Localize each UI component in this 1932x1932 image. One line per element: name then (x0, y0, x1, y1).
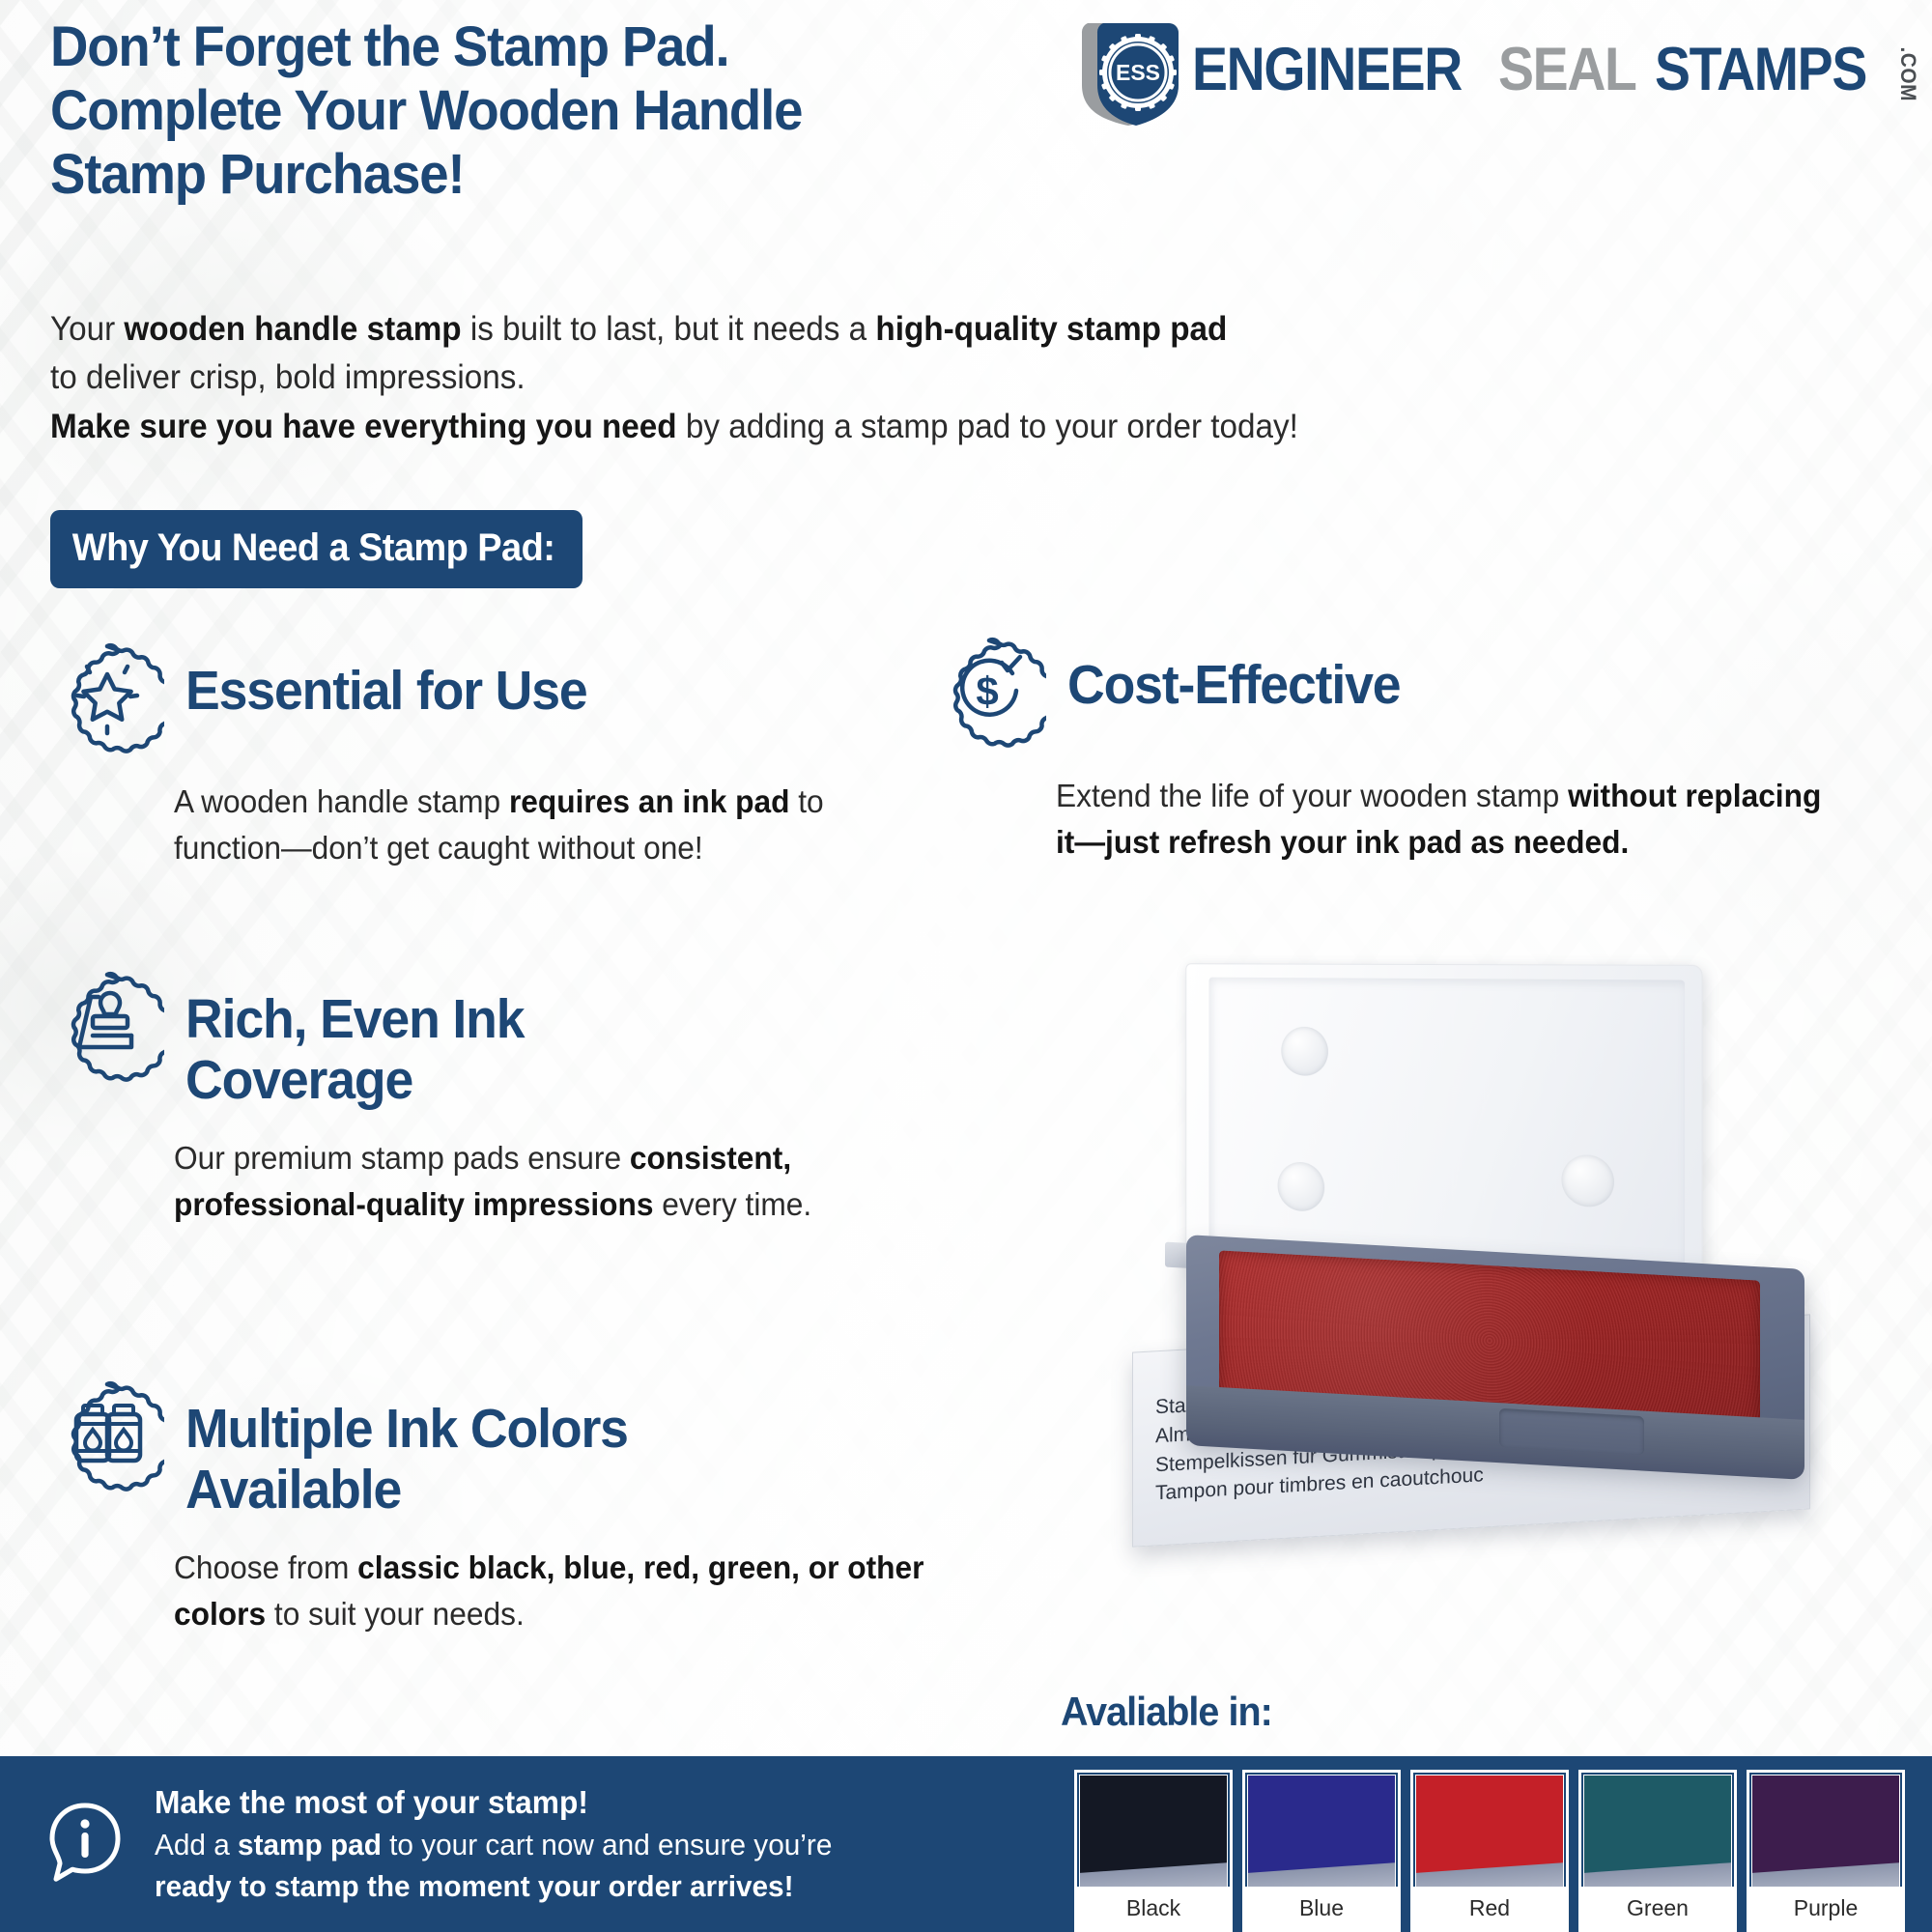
star-badge-icon (50, 639, 164, 753)
feature-body: Extend the life of your wooden stamp wit… (1056, 773, 1834, 866)
swatch-color-fill (1752, 1776, 1899, 1887)
intro-l2: to deliver crisp, bold impressions. (50, 358, 526, 396)
intro-l3-bold: Make sure you have everything you need (50, 408, 677, 445)
stamp-pad-lid-inner (1209, 978, 1686, 1285)
swatch-color-fill (1080, 1776, 1227, 1887)
feature-title: Rich, Even Ink Coverage (185, 974, 524, 1110)
page-headline: Don’t Forget the Stamp Pad. Complete You… (50, 15, 1103, 207)
color-swatch-strip: Black Blue Red Green Purple (1061, 1756, 1932, 1932)
feature-title: Multiple Ink Colors Available (185, 1383, 628, 1520)
swatch-green[interactable]: Green (1578, 1770, 1737, 1932)
svg-text:$: $ (976, 668, 998, 714)
feature-title: Essential for Use (185, 645, 587, 722)
swatch-red[interactable]: Red (1410, 1770, 1569, 1932)
ess-monogram-text: ESS (1116, 60, 1160, 85)
ink-bottles-badge-icon (50, 1378, 164, 1492)
feature-header: Rich, Even Ink Coverage (50, 974, 842, 1110)
feature-body-b: requires an ink pad (509, 783, 789, 819)
intro-l1-bold1: wooden handle stamp (124, 310, 461, 348)
swatch-blue[interactable]: Blue (1242, 1770, 1401, 1932)
cta-line2: Add a stamp pad to your cart now and ens… (155, 1825, 832, 1866)
dollar-badge-icon: $ (932, 634, 1046, 748)
swatch-label: Purple (1749, 1887, 1902, 1929)
available-in-title: Avaliable in: (1061, 1689, 1272, 1735)
cta-line3-bold: ready to stamp the moment your order arr… (155, 1869, 794, 1903)
feature-essential-for-use: Essential for Use A wooden handle stamp … (50, 645, 900, 871)
feature-header: Essential for Use (50, 645, 900, 753)
feature-body-a: Extend the life of your wooden stamp (1056, 778, 1568, 813)
brand-logo[interactable]: ESS ENGINEER SEAL STAMPS .COM (1078, 17, 1918, 126)
cta-line2-bold: stamp pad (238, 1828, 382, 1861)
cta-line2-c: to your cart now and ensure you’re (382, 1828, 833, 1861)
feature-cost-effective: $ Cost-Effective Extend the life of your… (932, 639, 1898, 866)
swatch-color-fill (1248, 1776, 1395, 1887)
stamp-pad-thumb-notch (1499, 1408, 1644, 1455)
feature-body-a: Our premium stamp pads ensure (174, 1140, 630, 1176)
swatch-black[interactable]: Black (1074, 1770, 1233, 1932)
stamp-pad-product-photo: C-S Stamp pad for rubber stamps Almohadi… (1111, 966, 1874, 1565)
swatch-color-fill (1584, 1776, 1731, 1887)
why-you-need-badge: Why You Need a Stamp Pad: (50, 510, 582, 588)
intro-l3-rest: by adding a stamp pad to your order toda… (677, 408, 1298, 445)
cta-line1: Make the most of your stamp! (155, 1780, 832, 1825)
logo-wordmark: ENGINEER SEAL STAMPS .COM (1192, 40, 1918, 102)
cta-line2-a: Add a (155, 1828, 238, 1861)
swatch-label: Blue (1245, 1887, 1398, 1929)
intro-l1-c: is built to last, but it needs a (462, 310, 876, 348)
cta-text: Make the most of your stamp! Add a stamp… (155, 1780, 832, 1907)
swatch-label: Green (1581, 1887, 1734, 1929)
stamp-badge-icon (50, 968, 164, 1082)
swatch-purple[interactable]: Purple (1747, 1770, 1905, 1932)
feature-title: Cost-Effective (1067, 639, 1400, 716)
feature-body: Our premium stamp pads ensure consistent… (174, 1135, 823, 1228)
logo-tld: .COM (1897, 47, 1918, 101)
feature-rich-even-ink-coverage: Rich, Even Ink Coverage Our premium stam… (50, 974, 842, 1228)
lid-dimple (1281, 1027, 1328, 1077)
swatch-label: Black (1077, 1887, 1230, 1929)
intro-paragraph: Your wooden handle stamp is built to las… (50, 305, 1629, 451)
cta-line3: ready to stamp the moment your order arr… (155, 1866, 832, 1908)
infographic-page: Don’t Forget the Stamp Pad. Complete You… (0, 0, 1932, 1932)
feature-header: Multiple Ink Colors Available (50, 1383, 920, 1520)
feature-body-c: every time. (653, 1186, 811, 1222)
info-bubble-icon (41, 1798, 129, 1890)
feature-multiple-ink-colors: Multiple Ink Colors Available Choose fro… (50, 1383, 920, 1637)
intro-l1-bold2: high-quality stamp pad (875, 310, 1227, 348)
swatch-color-fill (1416, 1776, 1563, 1887)
feature-body-a: A wooden handle stamp (174, 783, 509, 819)
swatch-label: Red (1413, 1887, 1566, 1929)
feature-body-c: to suit your needs. (266, 1596, 525, 1632)
intro-l1-a: Your (50, 310, 124, 348)
feature-body: A wooden handle stamp requires an ink pa… (174, 779, 860, 871)
ess-gear-seal-icon: ESS (1078, 17, 1192, 126)
cta-banner: Make the most of your stamp! Add a stamp… (0, 1756, 1061, 1932)
feature-body: Choose from classic black, blue, red, gr… (174, 1545, 944, 1637)
lid-dimple (1278, 1161, 1325, 1212)
feature-body-a: Choose from (174, 1549, 357, 1585)
feature-header: $ Cost-Effective (932, 639, 1898, 748)
logo-word-stamps: STAMPS (1655, 40, 1866, 100)
lid-dimple (1561, 1153, 1614, 1207)
logo-word-engineer: ENGINEER (1192, 40, 1462, 100)
logo-word-seal: SEAL (1498, 40, 1636, 100)
